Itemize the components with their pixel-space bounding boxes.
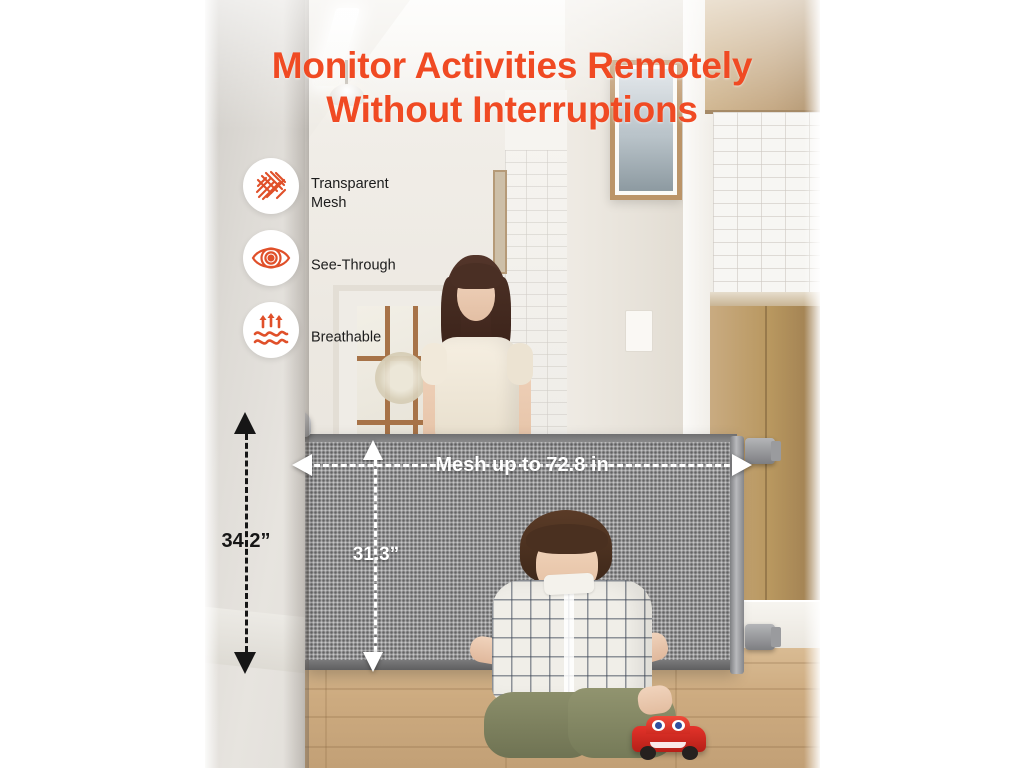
feature-list: Transparent Mesh See-Through — [243, 158, 483, 374]
feature-label: See-Through — [311, 256, 396, 275]
total-height-measurement: 34.2” — [228, 412, 264, 674]
feature-label: Transparent Mesh — [311, 175, 389, 213]
arrow-down-icon — [363, 652, 383, 672]
feature-transparent-mesh: Transparent Mesh — [243, 158, 483, 230]
boy-sitting — [460, 510, 710, 768]
feature-label: Breathable — [311, 328, 381, 347]
eye-icon — [243, 230, 299, 286]
arrow-down-icon — [234, 652, 256, 674]
page-title: Monitor Activities Remotely Without Inte… — [0, 44, 1024, 131]
headline-line-2: Without Interruptions — [0, 88, 1024, 132]
light-switch-plate — [625, 310, 653, 352]
arrow-up-icon — [234, 412, 256, 434]
arrow-up-icon — [363, 440, 383, 460]
mesh-height-measurement: 31.3” — [358, 440, 392, 672]
wall-bracket-bottom — [745, 624, 775, 650]
toy-car — [632, 716, 706, 760]
feature-breathable: Breathable — [243, 302, 483, 374]
headline-line-1: Monitor Activities Remotely — [0, 44, 1024, 88]
feature-see-through: See-Through — [243, 230, 483, 302]
mesh-grid-icon — [243, 158, 299, 214]
total-height-label: 34.2” — [206, 530, 286, 553]
breathable-icon — [243, 302, 299, 358]
mesh-height-label: 31.3” — [338, 544, 414, 566]
product-feature-image: Monitor Activities Remotely Without Inte… — [0, 0, 1024, 768]
